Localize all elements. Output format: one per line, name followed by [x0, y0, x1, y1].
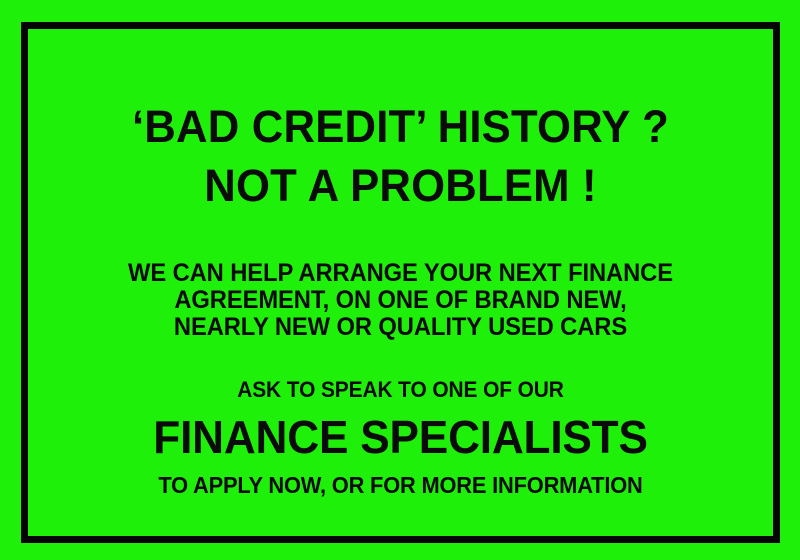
body-line-2: AGREEMENT, ON ONE OF BRAND NEW, — [47, 287, 755, 314]
body-line-1: WE CAN HELP ARRANGE YOUR NEXT FINANCE — [47, 260, 755, 287]
poster-content: ‘BAD CREDIT’ HISTORY ? NOT A PROBLEM ! W… — [28, 29, 773, 536]
headline-line-1: ‘BAD CREDIT’ HISTORY ? — [39, 97, 762, 156]
body-text-block: WE CAN HELP ARRANGE YOUR NEXT FINANCE AG… — [28, 260, 773, 341]
cta-main-heading: FINANCE SPECIALISTS — [43, 411, 758, 463]
headline-block: ‘BAD CREDIT’ HISTORY ? NOT A PROBLEM ! — [28, 97, 773, 215]
poster-canvas: ‘BAD CREDIT’ HISTORY ? NOT A PROBLEM ! W… — [0, 0, 800, 560]
call-to-action-block: ASK TO SPEAK TO ONE OF OUR FINANCE SPECI… — [28, 378, 773, 498]
cta-lead-text: ASK TO SPEAK TO ONE OF OUR — [47, 378, 755, 402]
body-line-3: NEARLY NEW OR QUALITY USED CARS — [47, 314, 755, 341]
headline-line-2: NOT A PROBLEM ! — [39, 156, 762, 215]
cta-footer-text: TO APPLY NOW, OR FOR MORE INFORMATION — [47, 473, 755, 498]
